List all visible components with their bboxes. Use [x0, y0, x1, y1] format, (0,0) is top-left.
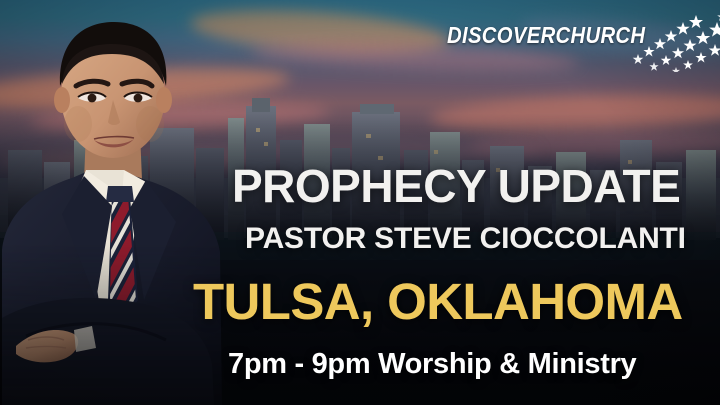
- discoverchurch-logo[interactable]: DISCOVERCHURCH: [447, 14, 712, 60]
- logo-wordmark: DISCOVERCHURCH: [447, 22, 645, 49]
- event-time: 7pm - 9pm Worship & Ministry: [228, 350, 636, 379]
- page-title: PROPHECY UPDATE: [232, 163, 680, 209]
- speaker-name: PASTOR STEVE CIOCCOLANTI: [245, 224, 686, 254]
- event-location: TULSA, OKLAHOMA: [193, 276, 683, 327]
- pastor-portrait-photo: [0, 0, 230, 405]
- prophecy-update-poster: DISCOVERCHURCH: [0, 0, 720, 405]
- stars-swoosh-icon: [632, 10, 720, 72]
